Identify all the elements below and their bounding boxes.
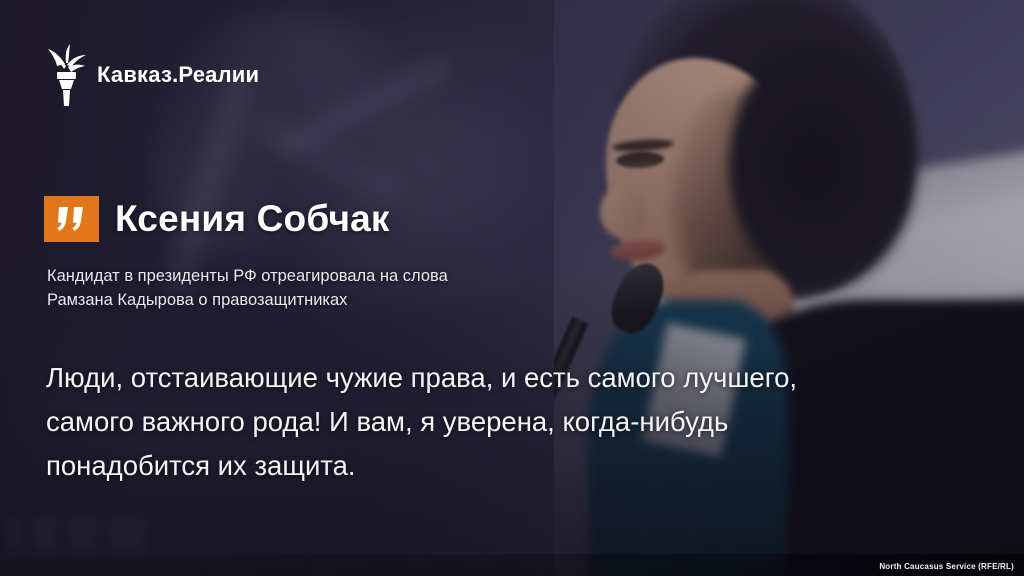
credit-bar [0, 554, 1024, 576]
speaker-header: Ксения Собчак [44, 196, 390, 242]
torch-flame-icon [44, 44, 88, 106]
speaker-name: Ксения Собчак [115, 198, 390, 240]
subtitle-text: Кандидат в президенты РФ отреагировала н… [47, 264, 448, 312]
quote-body-text: Люди, отстаивающие чужие права, и есть с… [46, 356, 946, 488]
quote-mark-icon [44, 196, 99, 242]
brand-logo[interactable]: Кавказ.Реалии [44, 44, 259, 106]
quote-card: Кавказ.Реалии Ксения Собчак Кандидат в п… [0, 0, 1024, 576]
brand-name: Кавказ.Реалии [97, 62, 259, 88]
photo-credit: North Caucasus Service (RFE/RL) [879, 562, 1014, 571]
